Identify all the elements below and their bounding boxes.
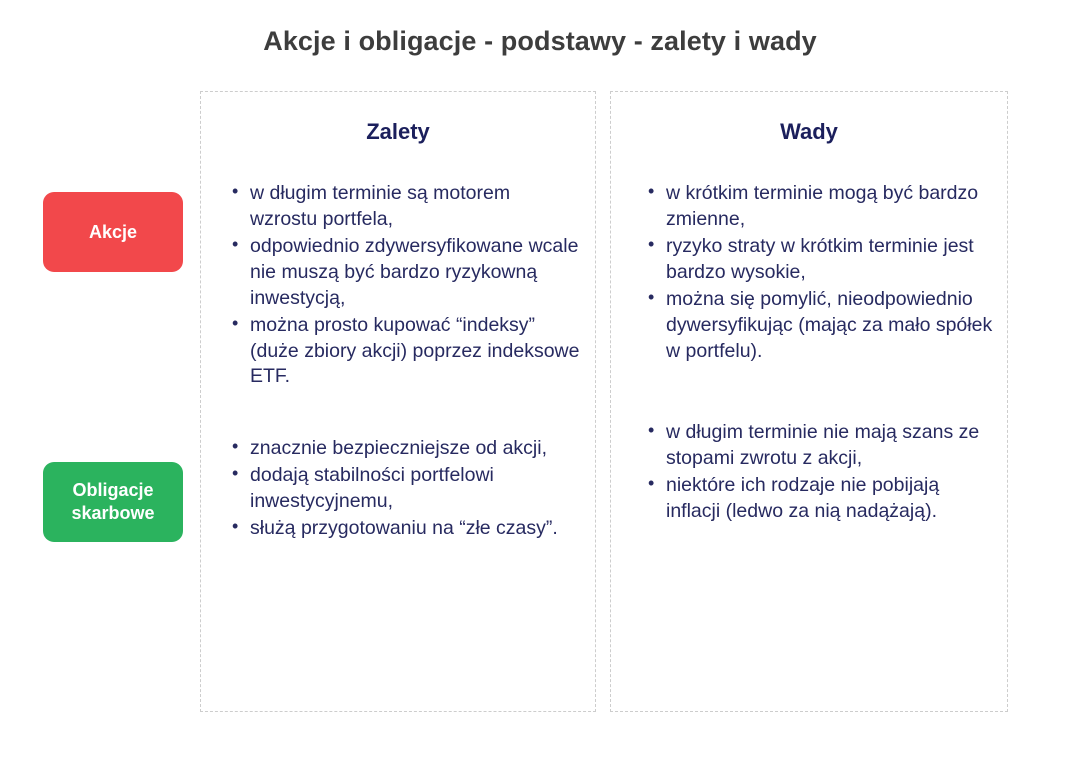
zalety-akcje-group: w długim terminie są motorem wzrostu por…: [231, 181, 595, 390]
panel-wady: Wady w krótkim terminie mogą być bardzo …: [610, 91, 1008, 712]
badge-obligacje: Obligacje skarbowe: [43, 462, 183, 542]
zalety-obligacje-group: znacznie bezpieczniejsze od akcji, dodaj…: [231, 436, 595, 542]
panel-zalety: Zalety w długim terminie są motorem wzro…: [200, 91, 596, 712]
list-item: odpowiednio zdywersyfikowane wcale nie m…: [231, 234, 580, 312]
category-badge-column: Akcje Obligacje skarbowe: [43, 88, 183, 712]
badge-obligacje-line-1: Obligacje: [71, 479, 154, 502]
zalety-obligacje-list: znacznie bezpieczniejsze od akcji, dodaj…: [231, 436, 595, 542]
wady-obligacje-list: w długim terminie nie mają szans ze stop…: [647, 420, 1007, 525]
wady-obligacje-group: w długim terminie nie mają szans ze stop…: [647, 420, 1007, 525]
list-item: można się pomylić, nieodpowiednio dywers…: [647, 287, 996, 365]
list-item: dodają stabilności portfelowi inwestycyj…: [231, 463, 570, 515]
wady-akcje-group: w krótkim terminie mogą być bardzo zmien…: [647, 181, 1007, 364]
list-item: można prosto kupować “indeksy” (duże zbi…: [231, 313, 580, 391]
badge-obligacje-label: Obligacje skarbowe: [71, 479, 154, 524]
list-item: znacznie bezpieczniejsze od akcji,: [231, 436, 570, 462]
list-item: służą przygotowaniu na “złe czasy”.: [231, 516, 570, 542]
list-item: w krótkim terminie mogą być bardzo zmien…: [647, 181, 996, 233]
list-item: w długim terminie są motorem wzrostu por…: [231, 181, 580, 233]
list-item: w długim terminie nie mają szans ze stop…: [647, 420, 996, 472]
panel-zalety-heading: Zalety: [201, 119, 595, 145]
panel-wady-heading: Wady: [611, 119, 1007, 145]
list-item: ryzyko straty w krótkim terminie jest ba…: [647, 234, 996, 286]
badge-akcje: Akcje: [43, 192, 183, 272]
zalety-akcje-list: w długim terminie są motorem wzrostu por…: [231, 181, 595, 390]
page-title: Akcje i obligacje - podstawy - zalety i …: [0, 26, 1080, 57]
comparison-panels: Zalety w długim terminie są motorem wzro…: [200, 91, 1008, 712]
badge-akcje-line-1: Akcje: [89, 221, 137, 244]
badge-akcje-label: Akcje: [89, 221, 137, 244]
list-item: niektóre ich rodzaje nie pobijają inflac…: [647, 473, 996, 525]
wady-akcje-list: w krótkim terminie mogą być bardzo zmien…: [647, 181, 1007, 364]
badge-obligacje-line-2: skarbowe: [71, 502, 154, 525]
